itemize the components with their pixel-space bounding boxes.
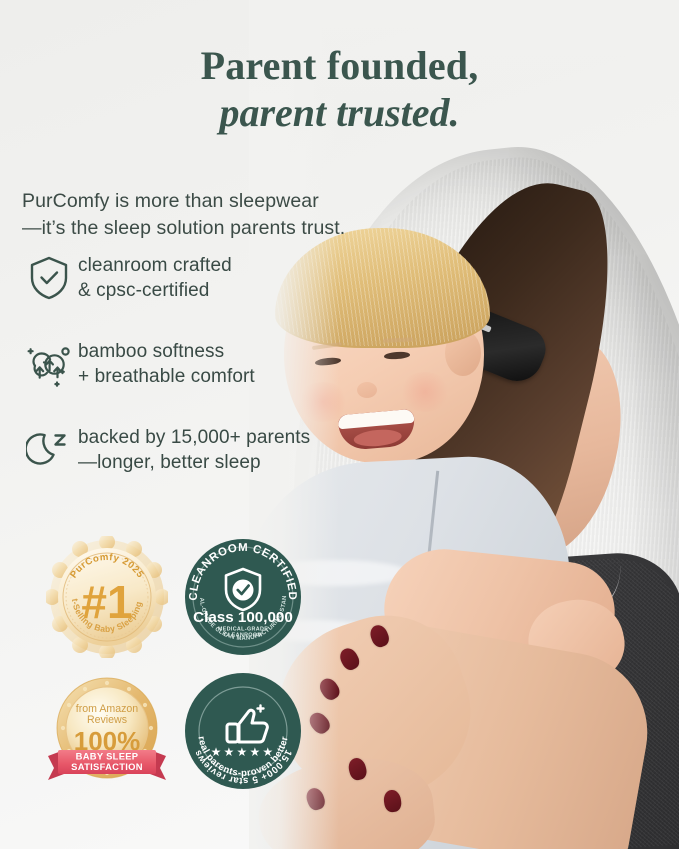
ribbon-line-2: SATISFACTION	[71, 761, 143, 772]
badge-center-text: #1	[81, 576, 132, 628]
badge-top-line-2: Reviews	[87, 714, 127, 726]
toddler-tongue	[353, 428, 402, 448]
moon-sleep-icon	[20, 422, 78, 478]
trust-badges: PurComfy 2025 Best-Selling Baby Sleeping…	[46, 536, 316, 804]
badge-row-2: from Amazon Reviews 100% BABY SLEEP SATI…	[46, 670, 316, 792]
best-seller-badge: PurComfy 2025 Best-Selling Baby Sleeping…	[46, 536, 168, 658]
feature-list: cleanroom crafted & cpsc-certified	[20, 250, 360, 508]
badge-center-text: Class 100,000	[193, 609, 293, 626]
subheading-line-1: PurComfy is more than sleepwear	[22, 190, 319, 212]
amazon-satisfaction-badge: from Amazon Reviews 100% BABY SLEEP SATI…	[46, 670, 168, 792]
feature-line-1: cleanroom crafted	[78, 253, 232, 278]
feature-line-2: —longer, better sleep	[78, 450, 310, 475]
cleanroom-certified-badge: CLEANROOM CERTIFIED MEDICAL-GRADE CLEAN …	[182, 536, 304, 658]
parent-reviews-badge: 15,000+ 5 star reviews real parents-prov…	[182, 670, 304, 792]
headline-line-1: Parent founded,	[0, 43, 679, 89]
ribbon-line-1: BABY SLEEP	[76, 751, 139, 762]
page-title: Parent founded, parent trusted.	[0, 43, 679, 136]
feature-text-cleanroom: cleanroom crafted & cpsc-certified	[78, 250, 232, 304]
bamboo-breathable-icon	[20, 336, 78, 392]
toddler-nose	[357, 382, 377, 398]
feature-text-sleep: backed by 15,000+ parents —longer, bette…	[78, 422, 310, 476]
toddler-cheek-right	[399, 372, 451, 412]
feature-item-sleep: backed by 15,000+ parents —longer, bette…	[20, 422, 360, 478]
shield-check-icon	[20, 250, 78, 306]
star-rating: ★★★★★	[211, 745, 276, 759]
marketing-hero: Parent founded, parent trusted. PurComfy…	[0, 0, 679, 849]
subheading-line-2: —it’s the sleep solution parents trust.	[22, 217, 345, 239]
subheading: PurComfy is more than sleepwear —it’s th…	[22, 188, 392, 243]
feature-text-bamboo: bamboo softness + breathable comfort	[78, 336, 255, 390]
feature-line-1: backed by 15,000+ parents	[78, 425, 310, 450]
badge-row-1: PurComfy 2025 Best-Selling Baby Sleeping…	[46, 536, 316, 658]
feature-line-2: + breathable comfort	[78, 364, 255, 389]
feature-item-bamboo: bamboo softness + breathable comfort	[20, 336, 360, 392]
feature-line-2: & cpsc-certified	[78, 278, 232, 303]
feature-item-cleanroom: cleanroom crafted & cpsc-certified	[20, 250, 360, 306]
headline-line-2: parent trusted.	[0, 90, 679, 136]
feature-line-1: bamboo softness	[78, 339, 255, 364]
badge-sub-line-2: CLEANROOM	[224, 633, 263, 639]
